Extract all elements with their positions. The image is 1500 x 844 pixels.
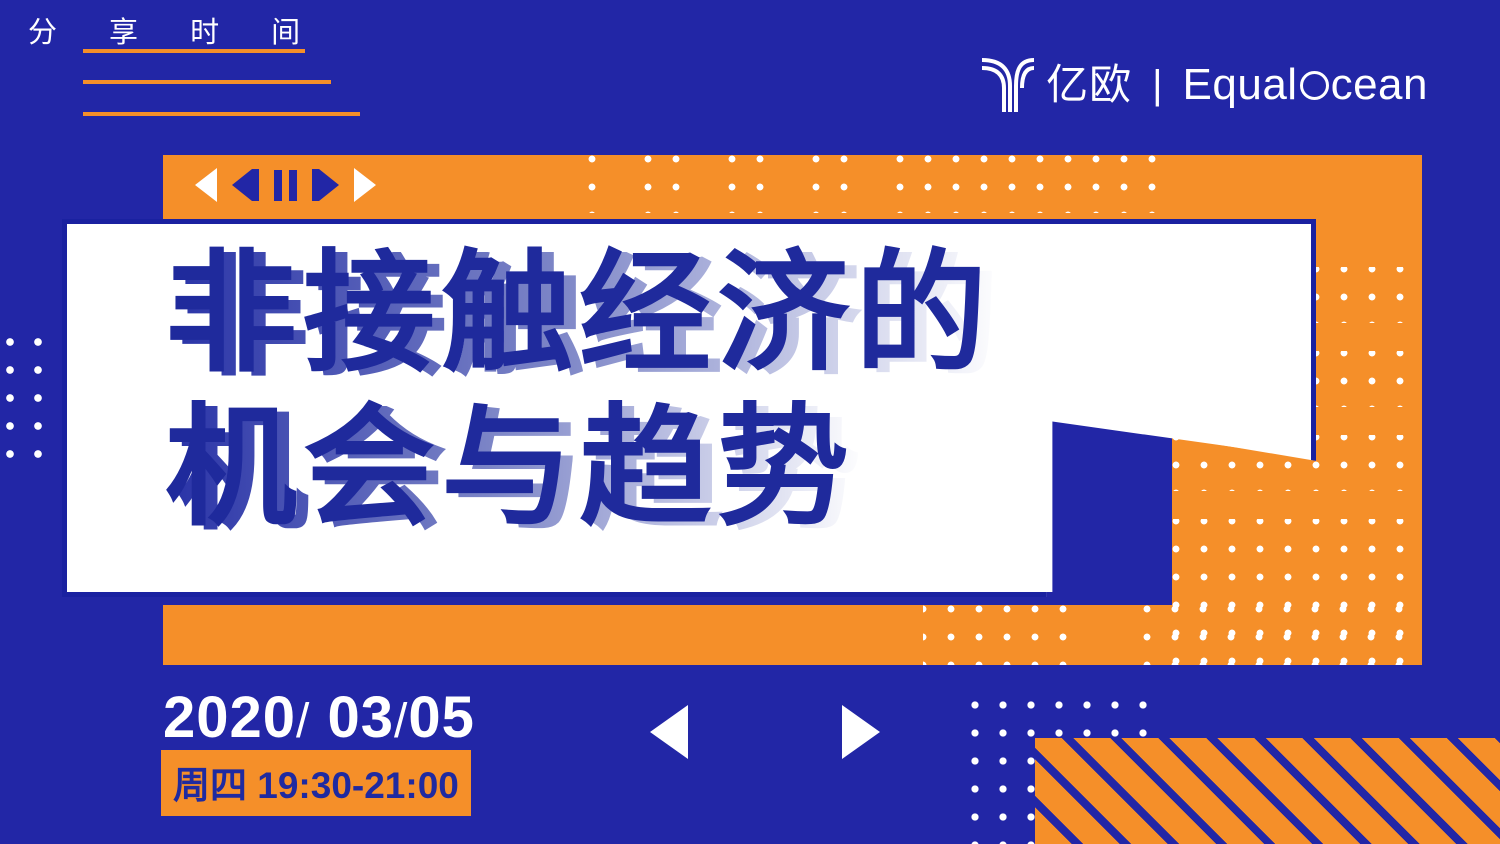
event-time-badge: 周四 19:30-21:00 (161, 750, 471, 816)
decor-rule-2 (83, 80, 331, 84)
nav-arrow-left-icon[interactable] (650, 705, 688, 759)
brand-name-cn: 亿欧 (1046, 64, 1132, 106)
date-slash-1: / (296, 695, 310, 748)
brand-name-en-prefix: Equal (1183, 63, 1298, 107)
brand-separator: | (1152, 65, 1162, 105)
event-time-range: 19:30-21:00 (257, 765, 459, 806)
decor-left-dot-grid (5, 337, 53, 465)
skip-forward-icon[interactable] (312, 169, 339, 201)
event-weekday: 周四 (173, 765, 247, 806)
title-line-1-text: 非接触经济的 (165, 240, 993, 387)
nav-arrow-right-icon[interactable] (842, 705, 880, 759)
page-title: 非接触经济的 非接触经济的 机会与趋势 机会与趋势 (165, 248, 993, 534)
title-line-1: 非接触经济的 非接触经济的 (165, 248, 993, 380)
triangle-left-icon[interactable] (195, 168, 217, 202)
triangle-right-icon[interactable] (354, 168, 376, 202)
carousel-nav[interactable] (650, 705, 880, 765)
date-month: 03 (328, 685, 395, 750)
media-controls[interactable] (195, 168, 376, 202)
decor-diagonal-stripes (1035, 738, 1500, 844)
brand-name-en: Equal cean (1183, 63, 1428, 107)
decor-rule-3 (83, 112, 360, 116)
date-day: 05 (408, 685, 475, 750)
yi-ou-logo-mark-icon (980, 56, 1036, 114)
date-slash-2: / (394, 695, 408, 748)
frame-dots-bottom (163, 605, 1422, 665)
title-line-2-text: 机会与趋势 (165, 394, 855, 541)
skip-backward-icon[interactable] (232, 169, 259, 201)
pause-icon[interactable] (274, 170, 297, 201)
section-label: 分 享 时 间 (28, 0, 322, 60)
event-poster: 非接触经济的 非接触经济的 机会与趋势 机会与趋势 分 享 时 间 2020/ … (0, 0, 1500, 844)
event-date: 2020/ 03/05 (163, 684, 475, 751)
brand-logo[interactable]: 亿欧 | Equal cean (980, 56, 1428, 114)
brand-o-ring-icon (1300, 71, 1329, 100)
date-year: 2020 (163, 685, 296, 750)
brand-name-en-suffix: cean (1331, 63, 1428, 107)
title-line-2: 机会与趋势 机会与趋势 (165, 402, 993, 534)
